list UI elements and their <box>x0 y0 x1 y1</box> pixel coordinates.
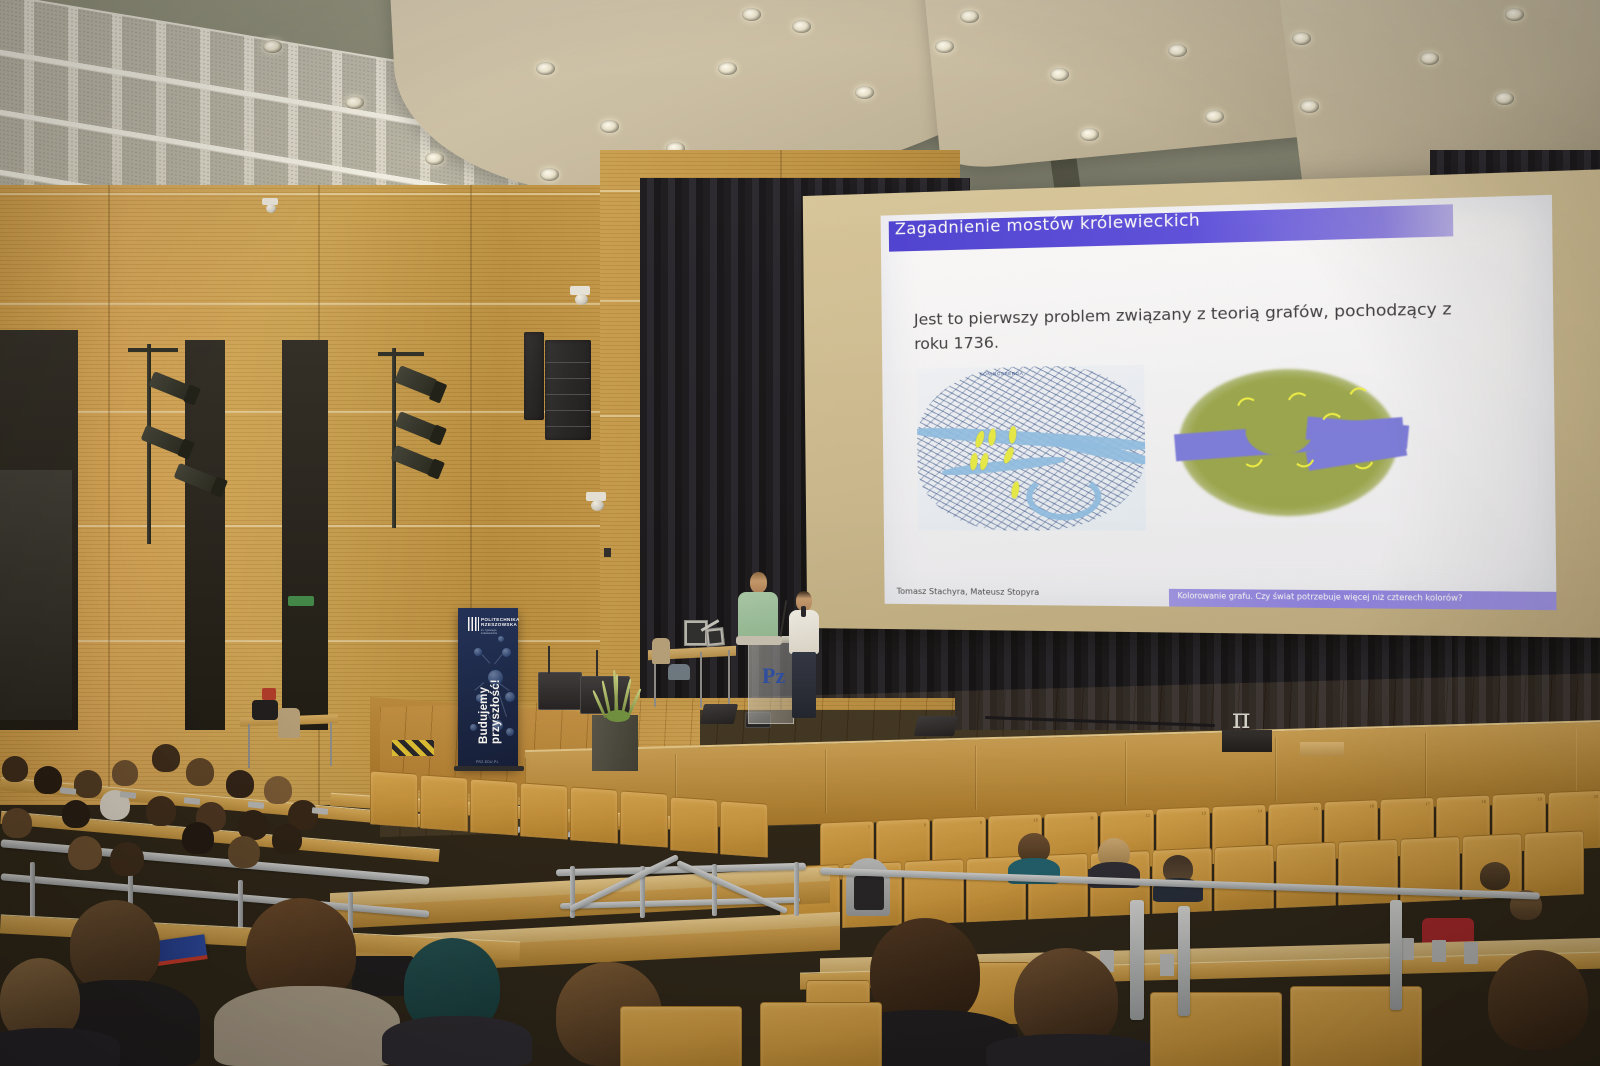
banner-url: PRZ.EDU.PL <box>476 760 499 764</box>
auditorium-seat[interactable] <box>620 1006 742 1066</box>
downlight <box>263 40 282 53</box>
downlight <box>1300 100 1319 113</box>
stage-wooden-block <box>1300 742 1344 756</box>
audience-head <box>2 808 32 838</box>
desk-chair[interactable] <box>652 638 670 664</box>
audience-head <box>74 770 102 798</box>
foreground-audience-shoulders <box>382 1016 532 1066</box>
foreground-audience-shoulders <box>214 986 400 1066</box>
backpack-on-table <box>252 700 278 720</box>
auditorium-seat[interactable] <box>1214 844 1274 911</box>
audience-head <box>146 796 176 826</box>
bridges-schematic-diagram <box>1178 359 1398 529</box>
auditorium-seat[interactable] <box>720 800 768 857</box>
downlight <box>540 168 559 181</box>
vertical-rail-post[interactable] <box>1390 900 1402 1010</box>
downlight <box>536 62 555 75</box>
slide-footer-talk-title: Kolorowanie grafu. Czy świat potrzebuje … <box>1177 591 1462 603</box>
audience-head <box>112 760 138 786</box>
presenter-head <box>750 572 767 593</box>
stage-planter <box>592 715 638 771</box>
auditorium-seat[interactable] <box>670 796 718 853</box>
desk-monitor[interactable] <box>684 620 708 646</box>
downlight <box>1495 92 1514 105</box>
downlight <box>960 10 979 23</box>
green-wall-box <box>288 596 314 606</box>
downlight <box>855 86 874 99</box>
audience-head <box>68 836 102 870</box>
lectern: Ρz <box>748 640 794 724</box>
stage-monitor-wedge <box>700 704 738 724</box>
wall-sensor <box>604 548 611 557</box>
auditorium-seat[interactable] <box>1150 992 1282 1066</box>
lecture-hall-scene: Zagadnienie mostów królewieckich Jest to… <box>0 0 1600 1066</box>
audience-head <box>182 822 214 854</box>
audience-head <box>226 770 254 798</box>
auditorium-seat[interactable] <box>760 1002 882 1066</box>
downlight <box>742 8 761 21</box>
auditorium-seat[interactable] <box>1338 839 1398 906</box>
projection-screen: Zagadnienie mostów królewieckich Jest to… <box>803 169 1600 637</box>
lectern-logo: Ρz <box>762 663 782 689</box>
auditorium-seat[interactable] <box>470 778 518 835</box>
wall-sconce <box>248 372 255 390</box>
audience-head <box>110 842 144 876</box>
wall-recess-door <box>282 340 328 730</box>
banner-slogan: Budujemy przyszłość! <box>478 624 502 744</box>
map-caption: KONINGSBERGA <box>980 371 1024 377</box>
stage-speaker-left <box>538 672 582 710</box>
koenigsberg-map-image: KONINGSBERGA <box>916 365 1145 531</box>
auditorium-seat[interactable] <box>620 790 668 847</box>
seat-tablet-arm[interactable] <box>1160 954 1174 976</box>
audience-head <box>264 776 292 804</box>
presenter-hands <box>736 636 782 645</box>
presenter-legs <box>792 652 816 718</box>
seat-tablet-arm[interactable] <box>1400 938 1414 960</box>
downlight <box>718 62 737 75</box>
auditorium-seat[interactable] <box>420 774 468 831</box>
slide-figures: KONINGSBERGA <box>906 357 1531 540</box>
line-array-speaker-secondary <box>524 332 544 420</box>
side-door-panel <box>0 470 72 720</box>
foreground-audience-shoulders <box>986 1034 1156 1066</box>
audience-head <box>2 756 28 782</box>
side-chair[interactable] <box>278 708 300 738</box>
auditorium-seat[interactable] <box>1290 986 1422 1066</box>
downlight <box>1168 44 1187 57</box>
audience-head <box>186 758 214 786</box>
auditorium-seat[interactable] <box>520 782 568 839</box>
downlight <box>1420 52 1439 65</box>
audience-head <box>62 800 90 828</box>
downlight <box>792 20 811 33</box>
hazard-marking <box>392 740 434 756</box>
line-array-speaker-left <box>545 340 591 440</box>
stage-plant <box>598 668 636 720</box>
audience-head <box>228 836 260 868</box>
downlight <box>425 152 444 165</box>
foreground-audience-head <box>1488 950 1588 1050</box>
banner-base <box>454 766 524 771</box>
desk-laptop[interactable] <box>705 627 725 647</box>
seat-tablet-arm[interactable] <box>1432 940 1446 962</box>
slide-footer-bar: Kolorowanie grafu. Czy świat potrzebuje … <box>1169 589 1557 610</box>
downlight <box>600 120 619 133</box>
vertical-rail-post[interactable] <box>1178 906 1190 1016</box>
desk-chair-seat[interactable] <box>668 664 690 680</box>
av-control-panel[interactable] <box>854 876 884 910</box>
slide-footer-authors: Tomasz Stachyra, Mateusz Stopyra <box>897 587 1040 597</box>
downlight <box>345 96 364 109</box>
downlight <box>1050 68 1069 81</box>
auditorium-seat[interactable] <box>370 770 418 827</box>
vertical-rail-post[interactable] <box>1130 900 1144 1020</box>
auditorium-seat[interactable] <box>1524 830 1584 897</box>
audience-head <box>152 744 180 772</box>
presentation-slide: Zagadnienie mostów królewieckich Jest to… <box>881 195 1557 610</box>
downlight <box>1205 110 1224 123</box>
pi-sculpture-plinth <box>1222 730 1272 752</box>
seat-tablet-arm[interactable] <box>1464 942 1478 964</box>
foreground-audience-shoulders <box>0 1028 120 1066</box>
foreground-audience-head <box>70 900 160 992</box>
downlight <box>1080 128 1099 141</box>
audience-head <box>272 824 302 854</box>
downlight <box>1292 32 1311 45</box>
stage-monitor-wedge <box>914 716 958 736</box>
slide-body-text: Jest to pierwszy problem związany z teor… <box>914 295 1493 356</box>
downlight <box>935 40 954 53</box>
handheld-microphone <box>801 606 806 617</box>
auditorium-seat[interactable] <box>1276 842 1336 909</box>
fire-extinguisher-box <box>262 688 276 700</box>
auditorium-seat[interactable] <box>904 858 964 925</box>
downlight <box>1505 8 1524 21</box>
audience-head <box>34 766 62 794</box>
rollup-banner: POLITECHNIKA RZESZOWSKA im. Ignacego Łuk… <box>458 608 518 768</box>
audience-head <box>1480 862 1510 890</box>
pi-sculpture: π <box>1232 707 1250 731</box>
auditorium-seat[interactable] <box>570 786 618 843</box>
